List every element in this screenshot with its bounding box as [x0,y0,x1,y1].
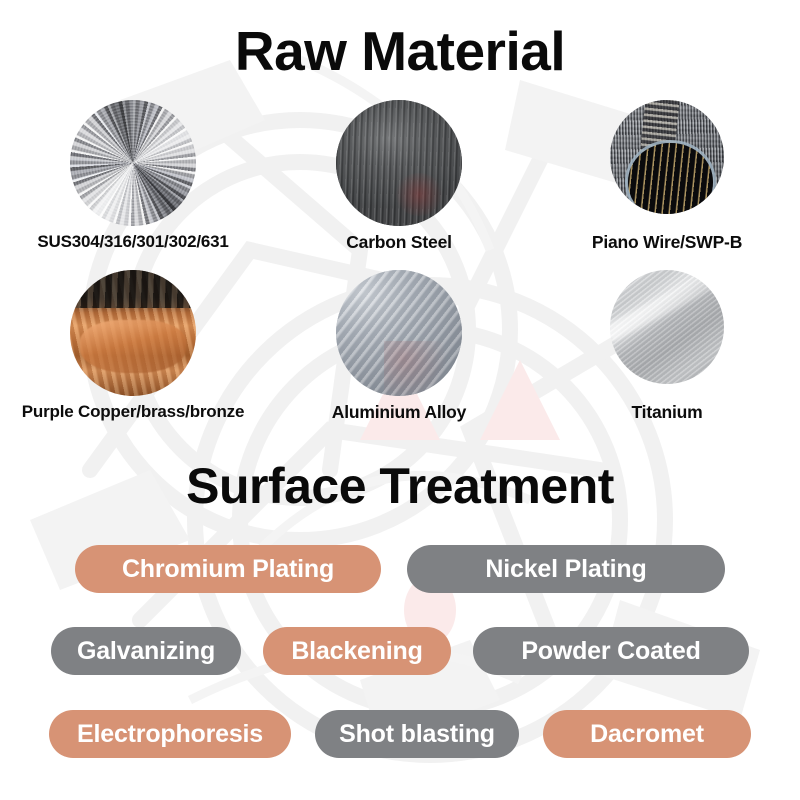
material-item-titanium[interactable]: Titanium [534,270,800,422]
surface-treatment-title: Surface Treatment [0,457,800,515]
infographic-page: Raw Material SUS304/316/301/302/631 [0,0,800,800]
pill-shot-blasting[interactable]: Shot blasting [315,710,519,758]
material-item-copper[interactable]: Purple Copper/brass/bronze [0,270,266,422]
pill-row: Electrophoresis Shot blasting Dacromet [0,710,800,758]
material-thumb-titanium [610,270,724,384]
carbon-steel-texture [336,100,462,226]
piano-wire-texture [610,100,724,214]
stainless-texture [70,100,196,226]
material-label-aluminium: Aluminium Alloy [266,402,532,422]
surface-treatment-list: Chromium Plating Nickel Plating Galvaniz… [0,530,800,760]
material-thumb-wrap [534,270,800,402]
pill-blackening[interactable]: Blackening [263,627,451,675]
material-row: Purple Copper/brass/bronze Aluminium All… [0,270,800,440]
material-thumb-copper [70,270,196,396]
pill-chromium-plating[interactable]: Chromium Plating [75,545,381,593]
pill-row: Chromium Plating Nickel Plating [0,545,800,593]
material-thumb-wrap [266,270,532,402]
material-label-copper: Purple Copper/brass/bronze [0,402,266,422]
pill-dacromet[interactable]: Dacromet [543,710,751,758]
material-item-carbon-steel[interactable]: Carbon Steel [266,100,532,252]
material-thumb-wrap [0,270,266,402]
material-thumb-wrap [266,100,532,232]
pill-electrophoresis[interactable]: Electrophoresis [49,710,291,758]
material-label-sus: SUS304/316/301/302/631 [0,232,266,252]
aluminium-texture [336,270,462,396]
material-row: SUS304/316/301/302/631 Carbon Steel [0,100,800,270]
material-label-titanium: Titanium [534,402,800,422]
material-label-piano-wire: Piano Wire/SWP-B [534,232,800,252]
pill-powder-coated[interactable]: Powder Coated [473,627,749,675]
material-thumb-carbon-steel [336,100,462,226]
material-thumb-wrap [534,100,800,232]
material-item-aluminium[interactable]: Aluminium Alloy [266,270,532,422]
raw-material-title: Raw Material [0,20,800,82]
material-item-piano-wire[interactable]: Piano Wire/SWP-B [534,100,800,252]
material-thumb-aluminium [336,270,462,396]
material-thumb-piano-wire [610,100,724,214]
material-thumb-wrap [0,100,266,232]
material-thumb-sus [70,100,196,226]
material-item-sus[interactable]: SUS304/316/301/302/631 [0,100,266,252]
pill-galvanizing[interactable]: Galvanizing [51,627,241,675]
copper-texture [70,270,196,396]
pill-nickel-plating[interactable]: Nickel Plating [407,545,725,593]
pill-row: Galvanizing Blackening Powder Coated [0,627,800,675]
raw-material-grid: SUS304/316/301/302/631 Carbon Steel [0,100,800,440]
titanium-texture [610,270,724,384]
material-label-carbon-steel: Carbon Steel [266,232,532,252]
